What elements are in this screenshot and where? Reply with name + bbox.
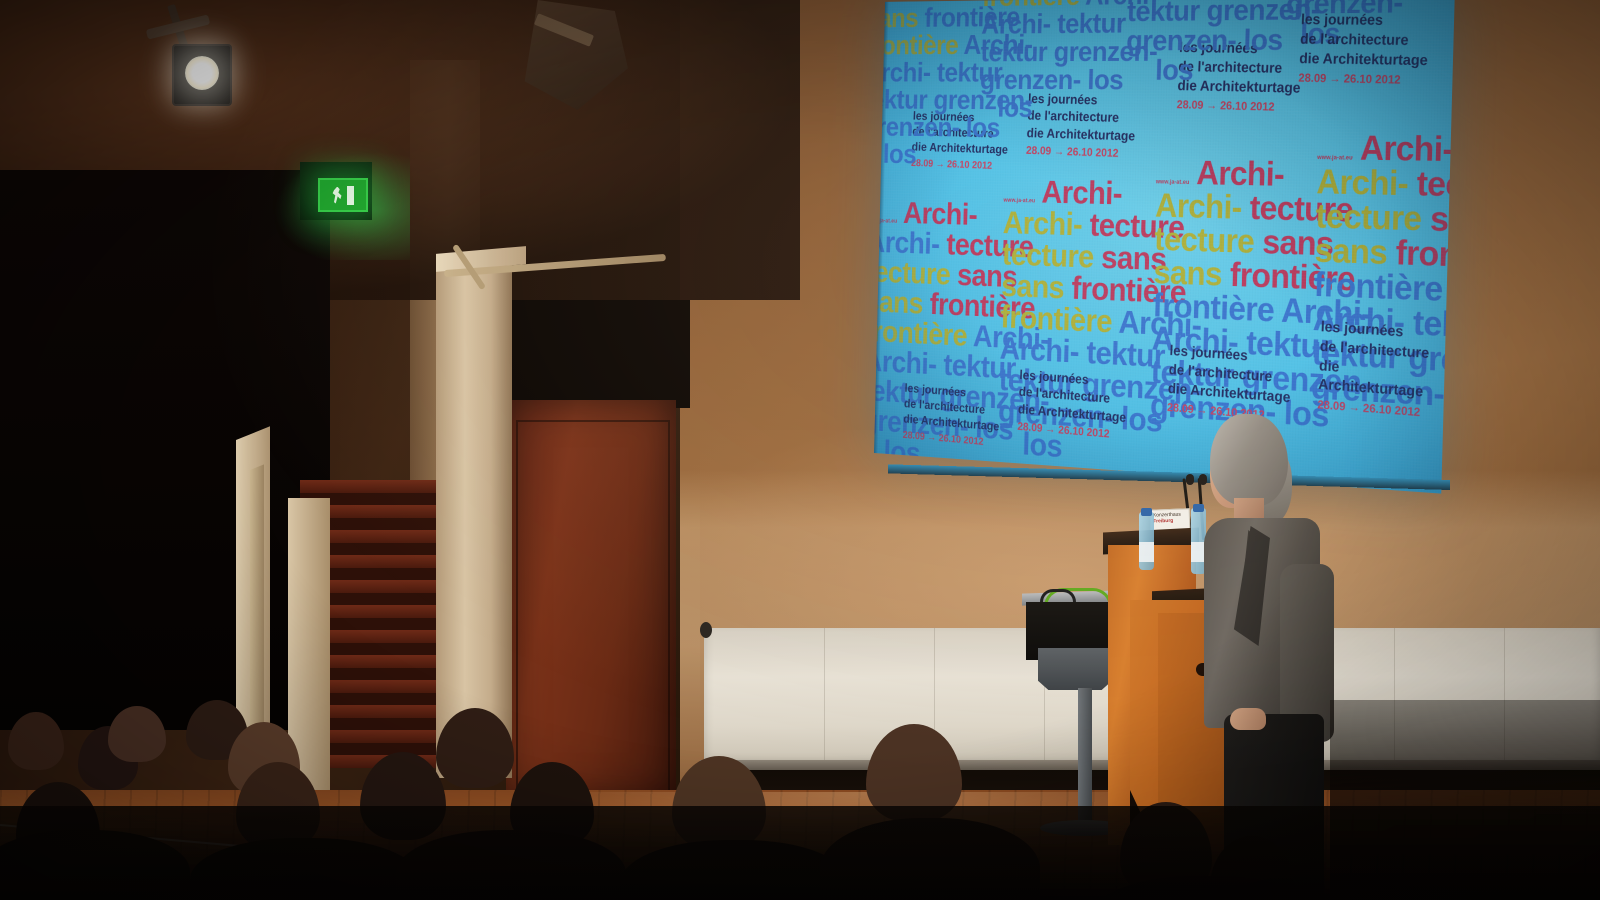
spotlight-body xyxy=(172,44,232,106)
spotlight-lens xyxy=(185,56,219,90)
exit-door-icon xyxy=(347,186,354,205)
water-bottle xyxy=(1139,512,1154,570)
placard-line-2: Freiburg xyxy=(1153,518,1187,525)
roller-screen-end-cap xyxy=(700,622,712,638)
screenshot-root: les journées de l'architecture die Archi… xyxy=(0,0,1600,900)
audience-head xyxy=(436,708,514,788)
speaker-hair xyxy=(1210,414,1288,506)
audience-head xyxy=(8,712,64,770)
audience-foreground xyxy=(0,806,1600,900)
av-stand-panel xyxy=(1038,648,1112,690)
running-man-icon xyxy=(332,187,343,204)
projected-image: les journées de l'architecture die Archi… xyxy=(874,0,1455,494)
projection-vignette xyxy=(874,0,1455,494)
audience-head xyxy=(108,706,166,762)
emergency-exit-icon xyxy=(318,178,368,212)
black-cable xyxy=(1040,589,1076,602)
bottle-label xyxy=(1139,542,1154,562)
door-header-shadow xyxy=(500,300,690,408)
bottle-cap xyxy=(1141,508,1152,516)
projection-screen: les journées de l'architecture die Archi… xyxy=(874,0,1455,494)
microphone-head xyxy=(1186,474,1194,485)
